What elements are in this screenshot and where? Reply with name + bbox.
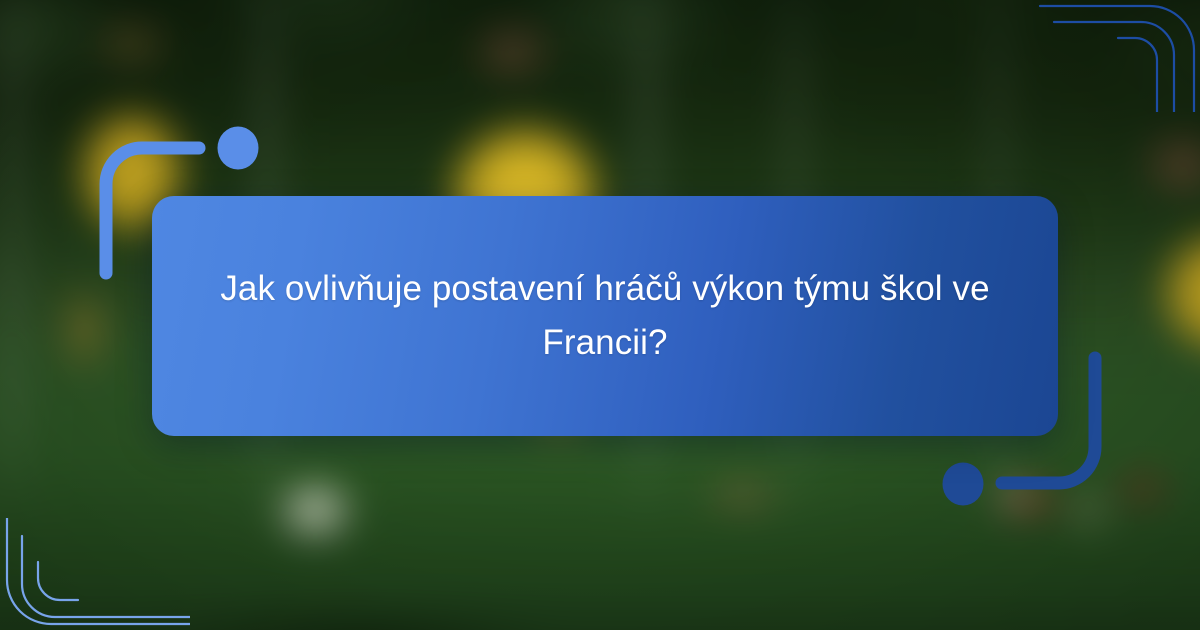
social-card-canvas: Jak ovlivňuje postavení hráčů výkon týmu… (0, 0, 1200, 630)
accent-dot-icon (218, 127, 259, 170)
title-card: Jak ovlivňuje postavení hráčů výkon týmu… (152, 196, 1058, 436)
accent-dot-icon (943, 463, 984, 506)
bottom-left-corner-lines (0, 518, 190, 630)
page-title: Jak ovlivňuje postavení hráčů výkon týmu… (204, 262, 1006, 371)
top-right-corner-lines (1010, 0, 1200, 112)
